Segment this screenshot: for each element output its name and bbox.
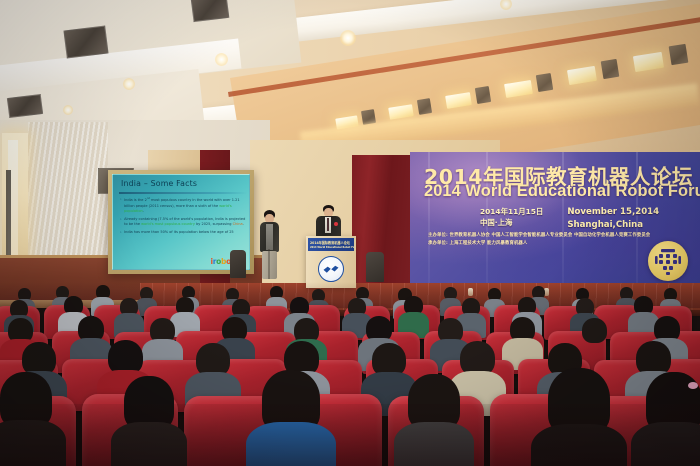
slide-title: India – Some Facts xyxy=(121,179,197,188)
slide-bullet-2: ▹ Already containing (7.5% of the world'… xyxy=(120,217,246,228)
ceiling-downlight-2 xyxy=(215,53,228,66)
podium: 2014年国际教育机器人论坛 2014 World Educational Ro… xyxy=(306,236,356,288)
seal-swoosh-mark xyxy=(324,265,339,274)
soffit-darkbox-6 xyxy=(669,44,689,65)
banner-city-cn: 中国·上海 xyxy=(480,217,543,228)
presenter-leg-gap xyxy=(268,249,270,279)
banner-city-en: Shanghai,China xyxy=(567,219,659,232)
university-seal-icon xyxy=(318,256,344,282)
soffit-darkbox-5 xyxy=(601,59,620,79)
bullet-marker-icon: ▹ xyxy=(120,197,122,214)
bullet-marker-icon: ▹ xyxy=(120,230,122,235)
ceiling-downlight-3 xyxy=(123,78,135,90)
presenter-shirt xyxy=(266,224,273,250)
banner-organizer-line-2: 承办单位: 上海工程技术大学 能力风暴教育机器人 xyxy=(428,240,683,248)
speaker-lapel-flower xyxy=(334,222,338,226)
soffit-darkbox-2 xyxy=(417,98,432,115)
slide-bullet-2-text: Already containing (7.5% of the world's … xyxy=(124,217,246,228)
bullet-marker-icon: ▹ xyxy=(120,217,122,228)
stage-chair-2 xyxy=(230,250,246,278)
ceiling-vent-left xyxy=(63,26,108,59)
slide-bullet-list: ▹ India is the 2nd most populous country… xyxy=(120,197,246,238)
banner-date-block: 2014年11月15日 中国·上海 November 15,2014 Shang… xyxy=(480,206,695,232)
slide-bullet-3: ▹ India has more than 50% of its populat… xyxy=(120,230,246,235)
soffit-darkbox-4 xyxy=(536,73,553,92)
podium-banner: 2014年国际教育机器人论坛 2014 World Educational Ro… xyxy=(308,238,354,251)
conference-hall-photo: 2014年国际教育机器人论坛 2014 World Educational Ro… xyxy=(0,0,700,466)
podium-banner-title-cn: 2014年国际教育机器人论坛 xyxy=(310,240,350,245)
slide-bullet-1: ▹ India is the 2nd most populous country… xyxy=(120,197,246,214)
slide-title-rule xyxy=(119,192,247,194)
stage-chair-1 xyxy=(366,252,384,282)
banner-organizer-line-1: 主办单位: 世界教育机器人协会 中国人工智能学会智能机器人专业委员会 中国自动化… xyxy=(428,232,683,240)
banner-date-chinese-col: 2014年11月15日 中国·上海 xyxy=(480,206,543,232)
ceiling-downlight-1 xyxy=(340,30,356,46)
event-backdrop-banner: 2014年国际教育机器人论坛 2014 World Educational Ro… xyxy=(410,152,700,287)
soffit-darkbox-3 xyxy=(475,86,491,104)
robot-emblem-icon xyxy=(648,241,688,281)
banner-date-en: November 15,2014 xyxy=(567,206,659,219)
slide-bullet-1-text: India is the 2nd most populous country i… xyxy=(124,197,246,214)
hair-clip-accessory xyxy=(688,382,698,389)
slide-bullet-3-text: India has more than 50% of its populatio… xyxy=(124,230,246,235)
ceiling-downlight-4 xyxy=(63,105,73,115)
banner-date-cn: 2014年11月15日 xyxy=(480,206,543,217)
ceiling-vent-lower-left xyxy=(7,94,43,118)
banner-date-english-col: November 15,2014 Shanghai,China xyxy=(567,206,659,232)
banner-organizers: 主办单位: 世界教育机器人协会 中国人工智能学会智能机器人专业委员会 中国自动化… xyxy=(428,232,683,247)
banner-title-english: 2014 World Educational Robot Forum xyxy=(424,182,696,201)
speaker-necktie xyxy=(327,218,329,231)
podium-banner-title-en: 2014 World Educational Robot Forum xyxy=(310,245,354,249)
